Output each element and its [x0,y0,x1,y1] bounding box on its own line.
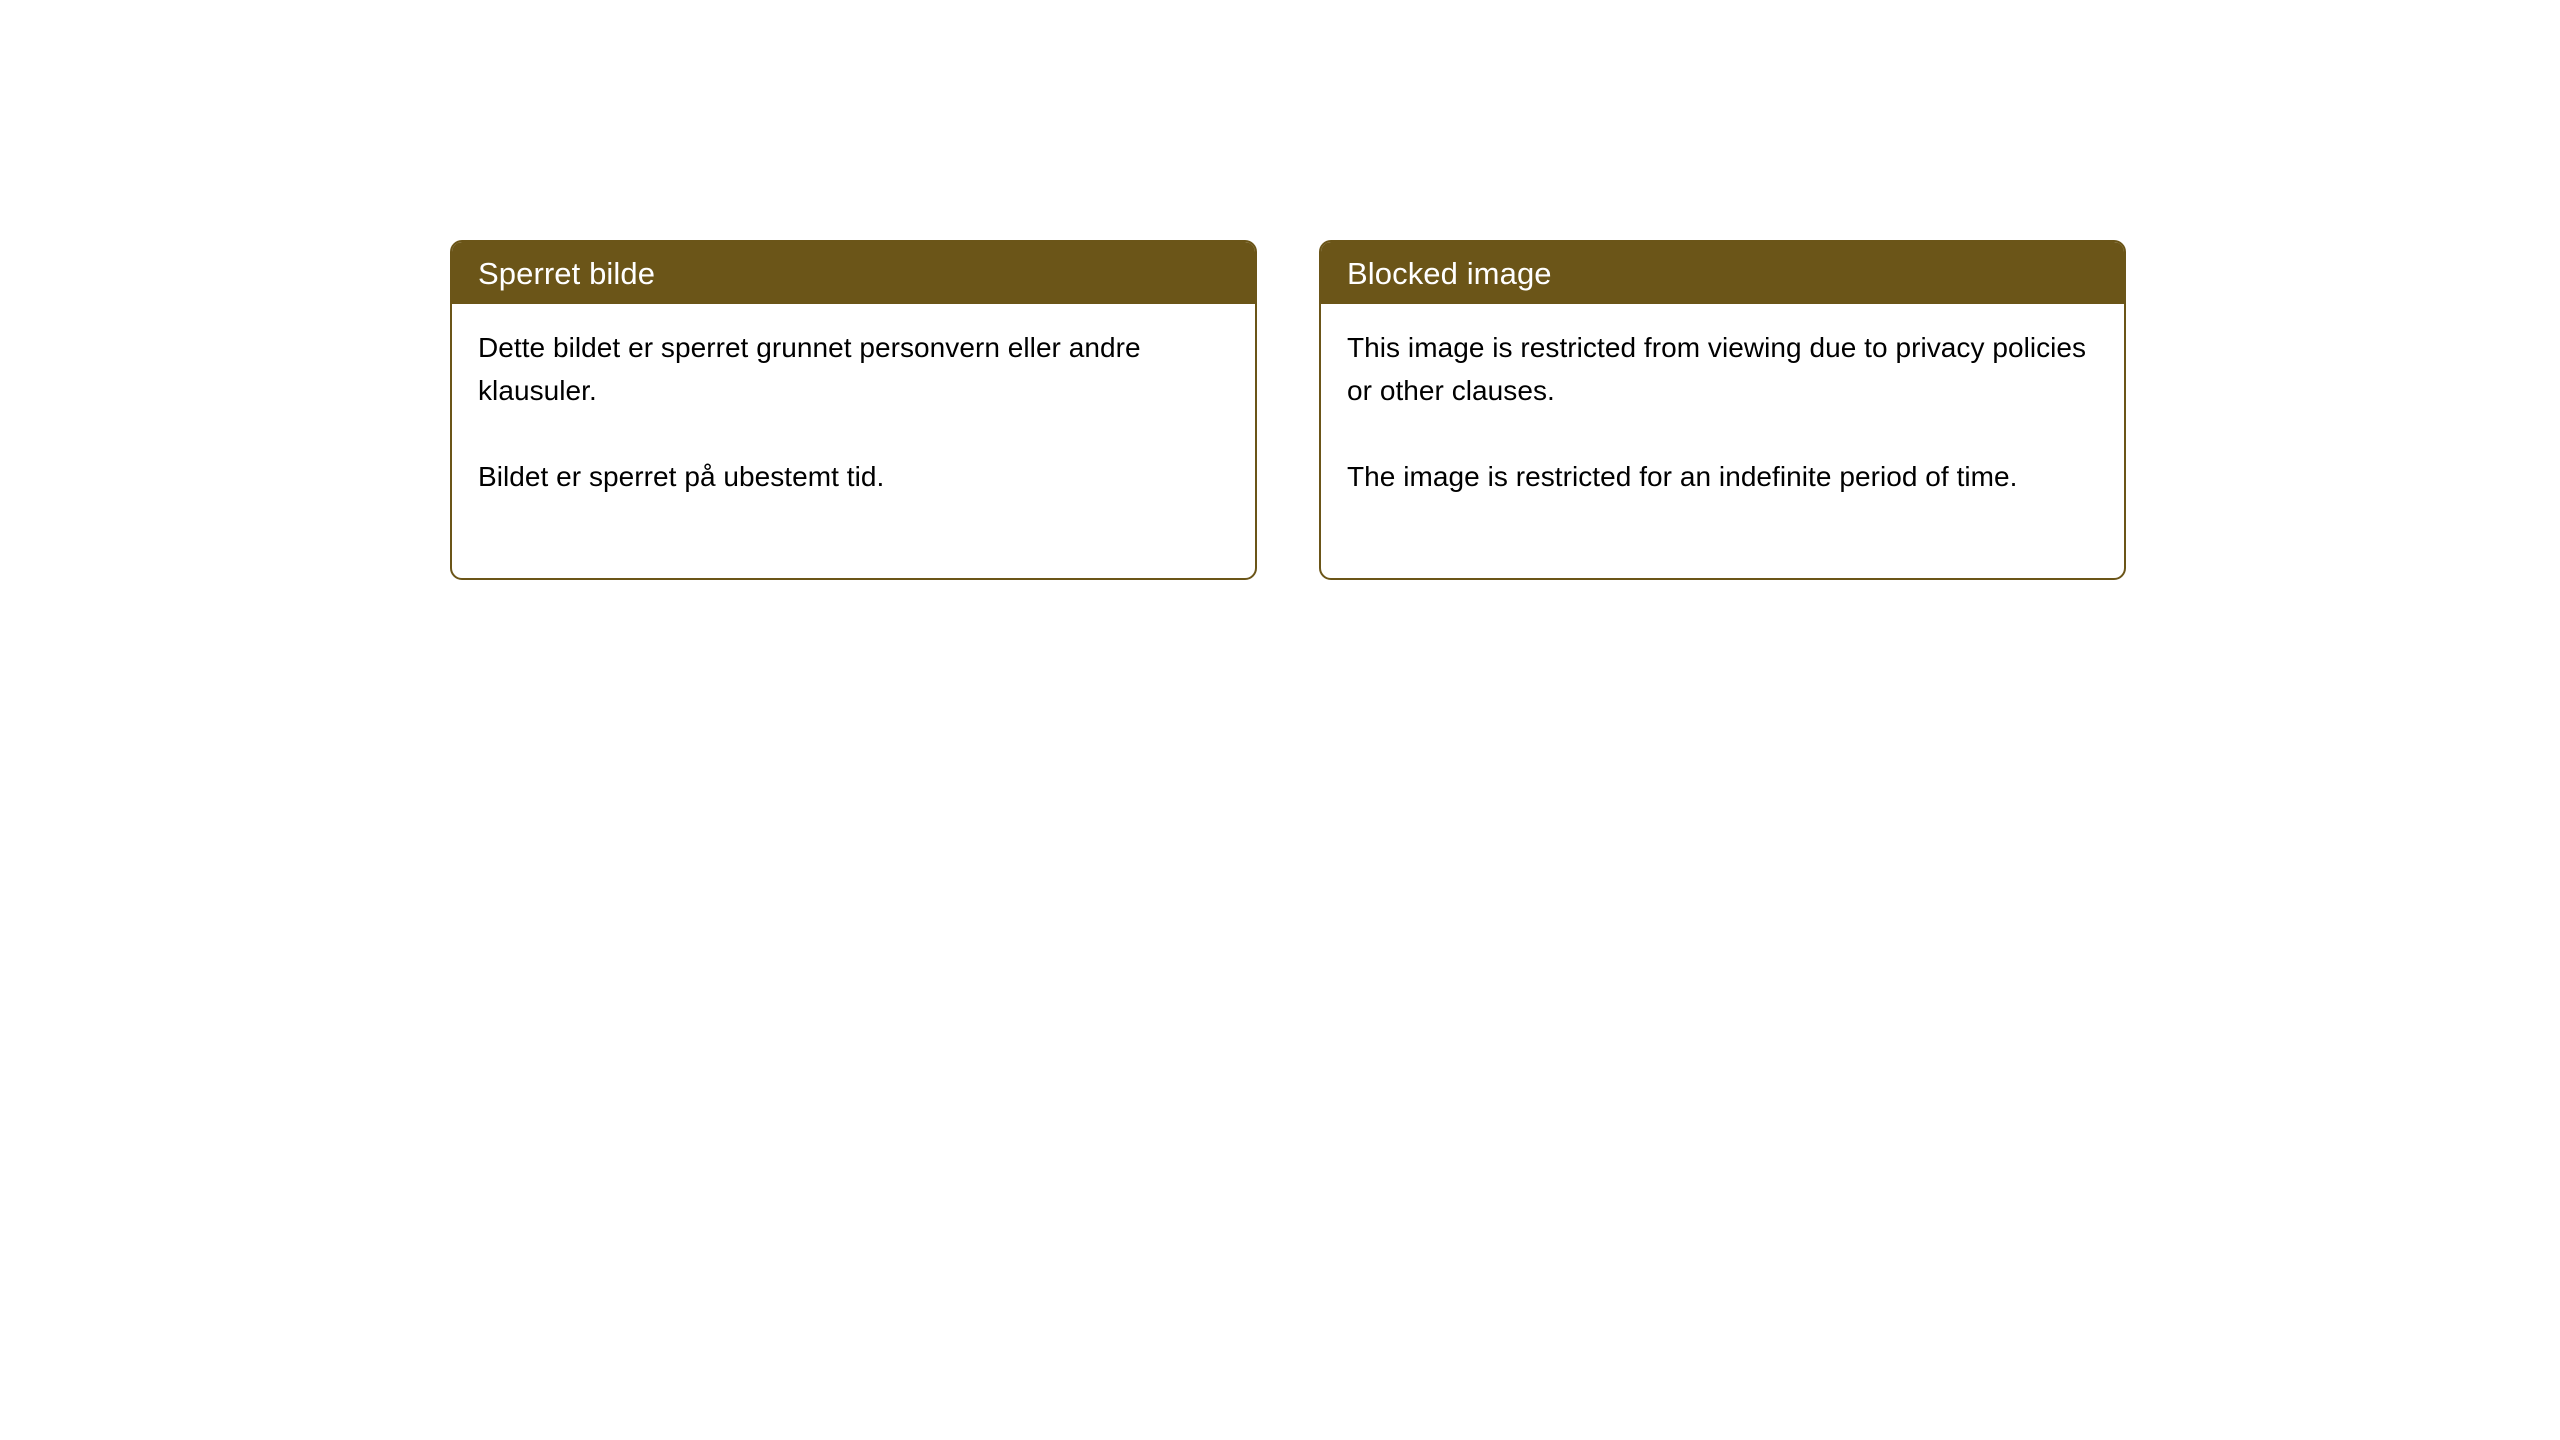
page-root: Sperret bilde Dette bildet er sperret gr… [0,0,2560,1440]
notice-title-en: Blocked image [1347,258,1552,289]
notice-paragraph-no-1: Dette bildet er sperret grunnet personve… [478,326,1198,412]
notice-header-no: Sperret bilde [452,242,1255,304]
notice-paragraph-no-2: Bildet er sperret på ubestemt tid. [478,455,1198,498]
notice-body-en: This image is restricted from viewing du… [1321,304,2124,498]
notice-paragraph-en-2: The image is restricted for an indefinit… [1347,455,2092,498]
notice-header-en: Blocked image [1321,242,2124,304]
notice-paragraph-en-1: This image is restricted from viewing du… [1347,326,2092,412]
blocked-image-notice-group: Sperret bilde Dette bildet er sperret gr… [450,240,2126,580]
blocked-image-notice-card-en: Blocked image This image is restricted f… [1319,240,2126,580]
blocked-image-notice-card-no: Sperret bilde Dette bildet er sperret gr… [450,240,1257,580]
notice-body-no: Dette bildet er sperret grunnet personve… [452,304,1255,498]
notice-title-no: Sperret bilde [478,258,655,289]
